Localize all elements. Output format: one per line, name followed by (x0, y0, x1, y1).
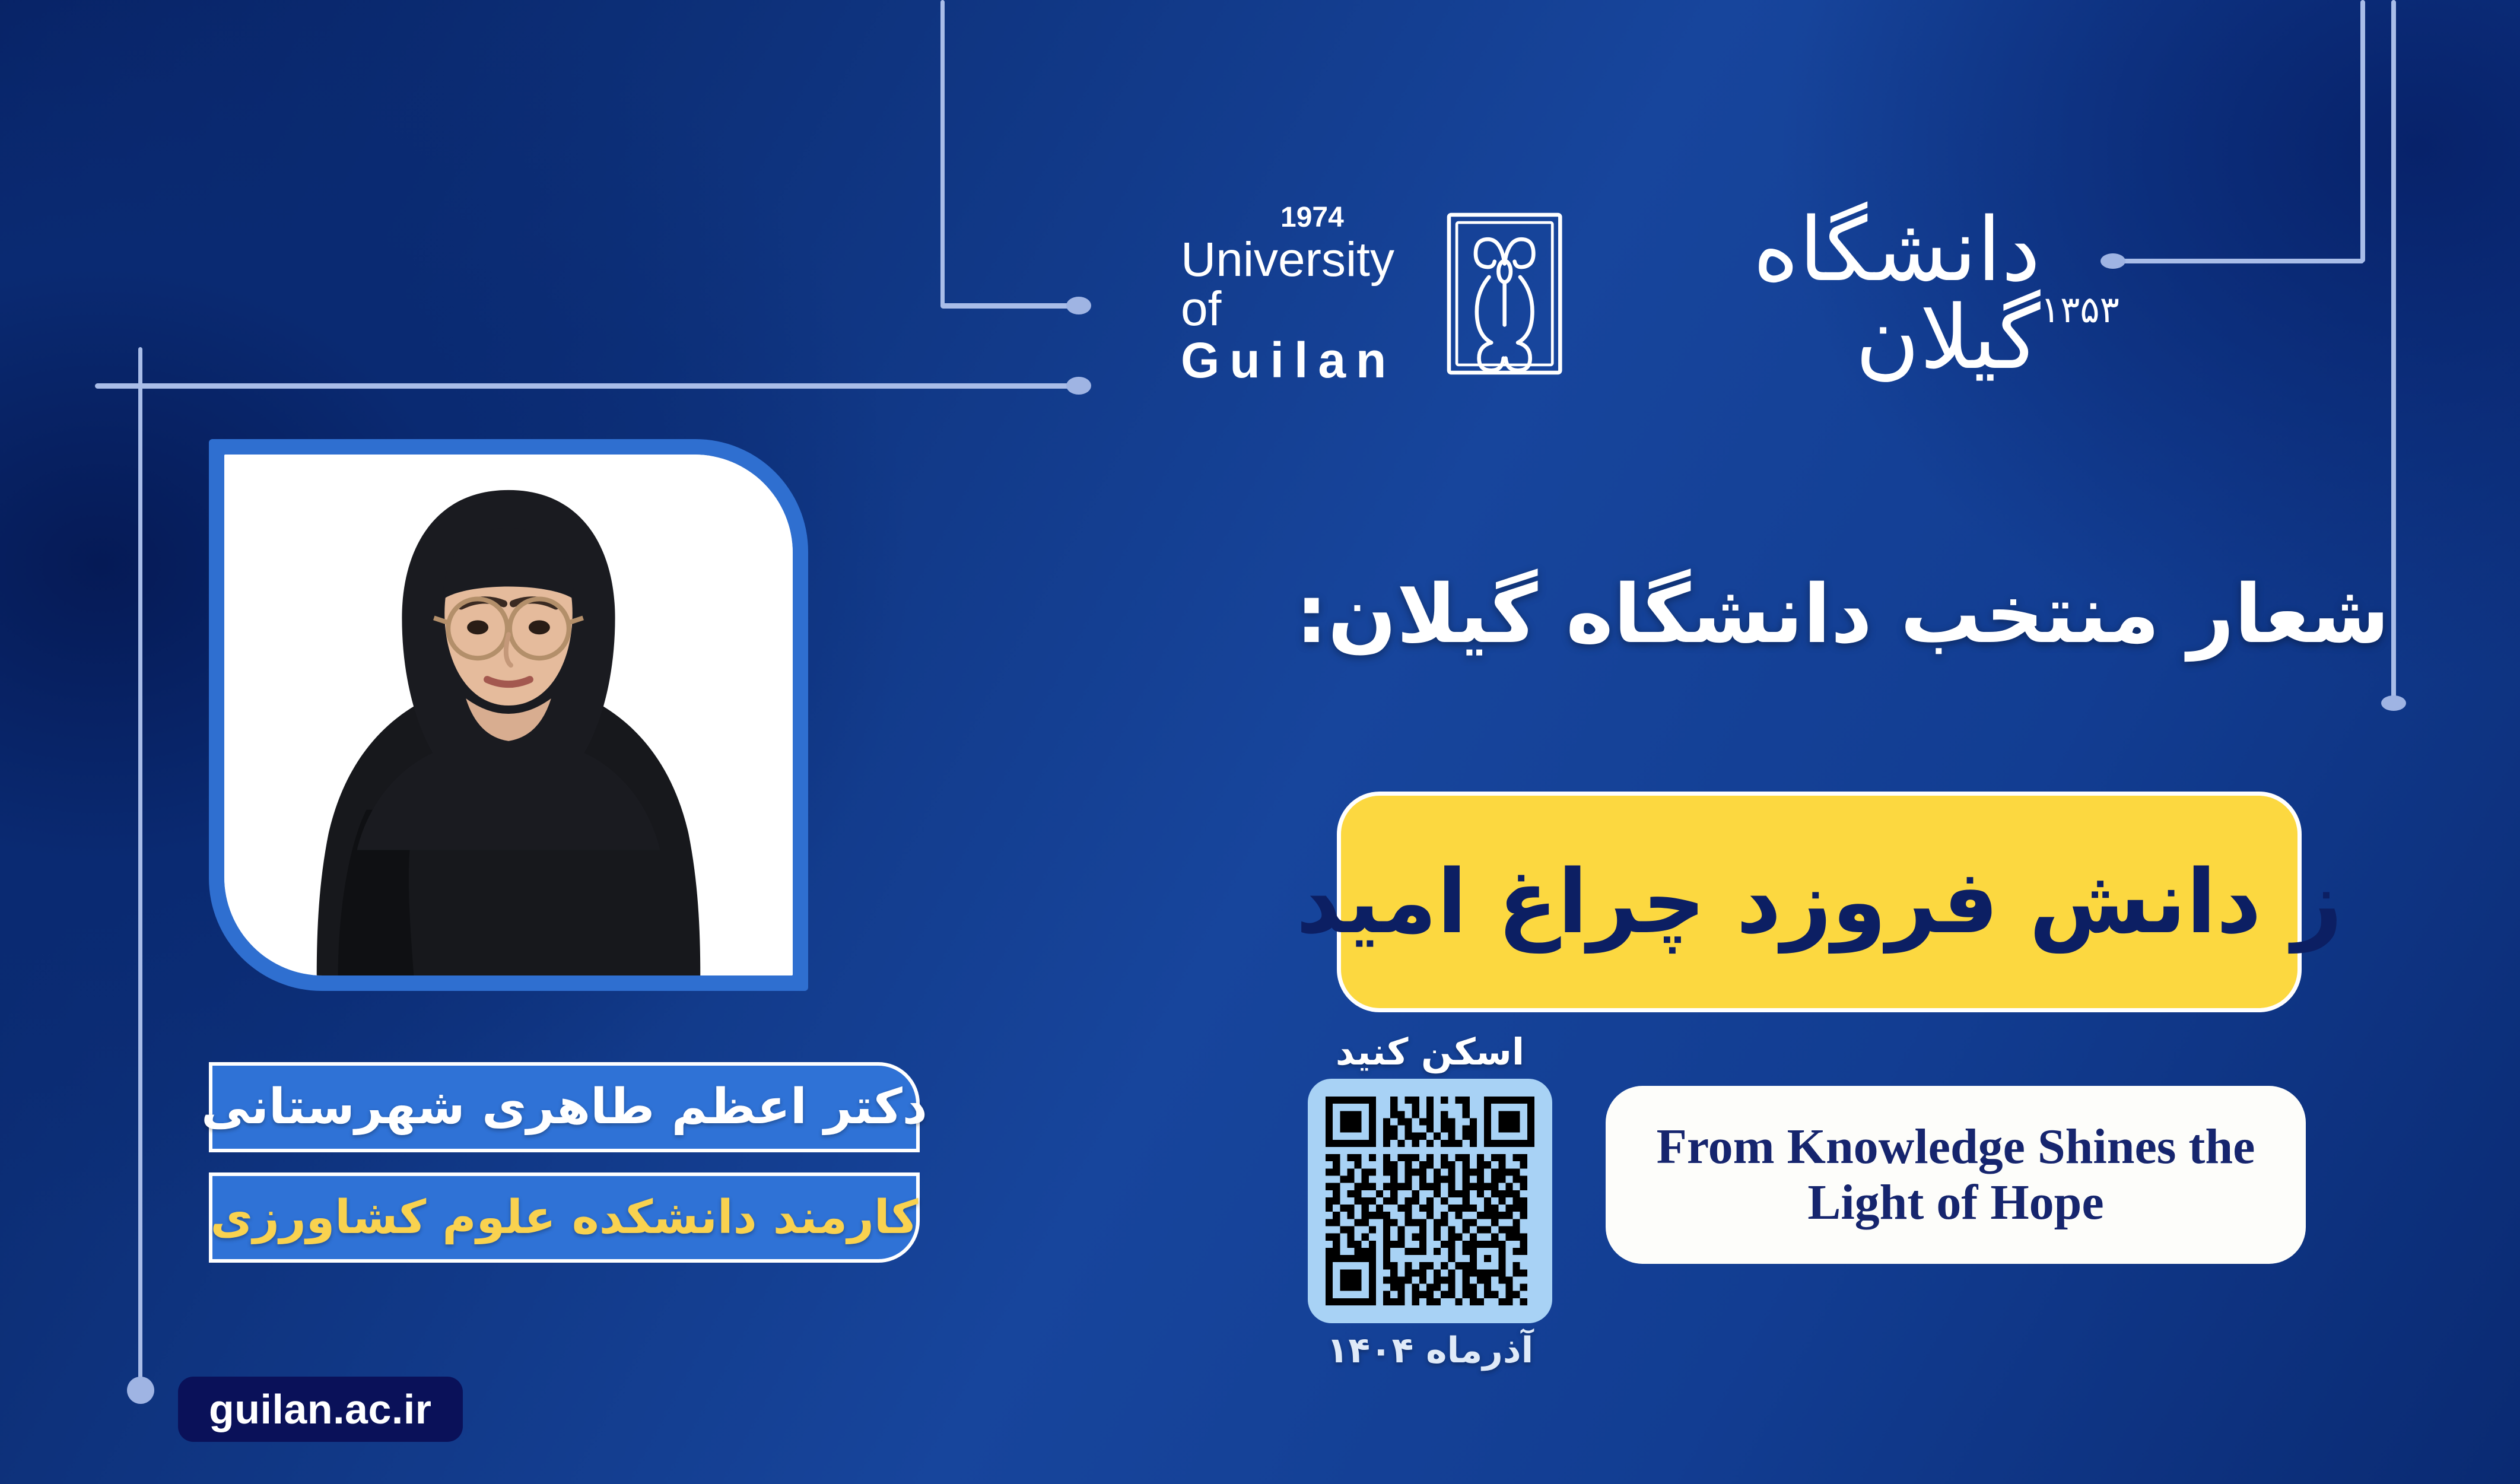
logo-university-persian: دانشگاه گیلان (1577, 206, 2041, 382)
page-headline: شعار منتخب دانشگاه گیلان: (1262, 570, 2389, 660)
portrait-frame (209, 439, 808, 991)
website-pill[interactable]: guilan.ac.ir (178, 1377, 463, 1442)
slogan-english-text: From Knowledge Shines the Light of Hope (1606, 1119, 2306, 1231)
logo-english-text: 1974 University of Guilan (1181, 201, 1432, 386)
deco-dot-long-horizontal (1066, 377, 1091, 395)
deco-line-top-left-horizontal (940, 303, 1074, 309)
logo-year-persian: ۱۳۵۳ (2041, 288, 2119, 331)
logo-persian-text: ۱۳۵۳ دانشگاه گیلان (1577, 206, 2130, 382)
guilan-emblem-icon (1440, 205, 1569, 383)
deco-dot-top-right-outer (2381, 695, 2406, 711)
slogan-box-persian: ز دانش فروزد چراغ امید (1337, 792, 2302, 1012)
poster-canvas: 1974 University of Guilan ۱۳۵۳ دانشگاه گ… (0, 0, 2520, 1484)
qr-card[interactable] (1308, 1079, 1552, 1323)
person-name-text: دکتر اعظم طاهری شهرستانی (201, 1083, 927, 1132)
deco-line-top-right-vertical-inner (2360, 0, 2365, 262)
logo-guilan-word: Guilan (1181, 334, 1396, 386)
university-logo: 1974 University of Guilan ۱۳۵۳ دانشگاه گ… (1181, 196, 2130, 392)
deco-dot-top-left (1066, 297, 1091, 314)
website-url-text: guilan.ac.ir (209, 1386, 432, 1433)
qr-date-text: آذرماه ۱۴۰۴ (1327, 1333, 1533, 1368)
slogan-box-english: From Knowledge Shines the Light of Hope (1606, 1086, 2306, 1264)
deco-dot-left-bottom (127, 1377, 154, 1404)
qr-block: اسکن کنید (1304, 1034, 1556, 1390)
person-role-plate: کارمند دانشکده علوم کشاورزی (209, 1172, 920, 1263)
logo-university-word: University of (1181, 235, 1432, 334)
deco-line-top-right-horizontal (2112, 259, 2364, 263)
person-role-text: کارمند دانشکده علوم کشاورزی (210, 1194, 918, 1241)
deco-line-top-left-vertical (940, 0, 945, 307)
person-portrait-illustration (224, 455, 793, 975)
portrait-photo (224, 455, 793, 975)
qr-caption-text: اسکن کنید (1336, 1034, 1524, 1070)
person-name-plate: دکتر اعظم طاهری شهرستانی (209, 1062, 920, 1152)
logo-year-gregorian: 1974 (1280, 201, 1344, 234)
deco-line-top-right-vertical-outer (2391, 0, 2396, 709)
deco-line-left-vertical (138, 347, 142, 1391)
qr-code-icon[interactable] (1326, 1097, 1534, 1305)
slogan-persian-text: ز دانش فروزد چراغ امید (1296, 858, 2343, 946)
deco-line-long-horizontal (95, 383, 1077, 389)
